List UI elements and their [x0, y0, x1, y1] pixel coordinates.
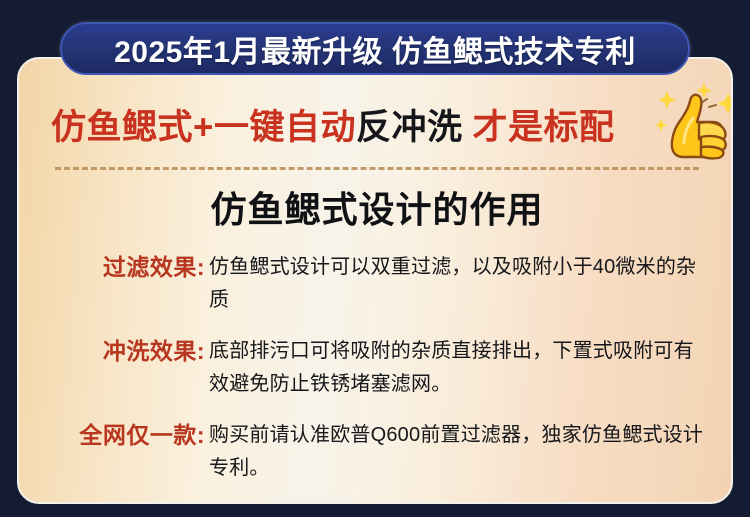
top-badge: 2025年1月最新升级 仿鱼鳃式技术专利 — [60, 22, 690, 75]
info-row-label: 冲洗效果: — [19, 335, 205, 368]
headline-part-3: 才是标配 — [462, 99, 614, 150]
info-row-body: 仿鱼鳃式设计可以双重过滤，以及吸附小于40微米的杂质 — [205, 251, 733, 317]
info-row-body: 购买前请认准欧普Q600前置过滤器，独家仿鱼鳃式设计专利。 — [205, 419, 733, 485]
info-row-list: 过滤效果: 仿鱼鳃式设计可以双重过滤，以及吸附小于40微米的杂质 冲洗效果: 底… — [19, 251, 733, 503]
info-row: 过滤效果: 仿鱼鳃式设计可以双重过滤，以及吸附小于40微米的杂质 — [19, 251, 733, 317]
dashed-divider — [55, 167, 699, 170]
info-row-label: 全网仅一款: — [19, 419, 205, 452]
headline-row: 仿鱼鳃式+一键自动 反冲洗 才是标配 — [19, 99, 733, 150]
info-row: 全网仅一款: 购买前请认准欧普Q600前置过滤器，独家仿鱼鳃式设计专利。 — [19, 419, 733, 485]
headline-part-1: 仿鱼鳃式+一键自动 — [51, 99, 356, 150]
info-row: 冲洗效果: 底部排污口可将吸附的杂质直接排出，下置式吸附可有效避免防止铁锈堵塞滤… — [19, 335, 733, 401]
top-badge-label: 2025年1月最新升级 仿鱼鳃式技术专利 — [114, 27, 636, 71]
info-row-body: 底部排污口可将吸附的杂质直接排出，下置式吸附可有效避免防止铁锈堵塞滤网。 — [205, 335, 733, 401]
section-title: 仿鱼鳃式设计的作用 — [19, 181, 733, 233]
promo-poster: 仿鱼鳃式+一键自动 反冲洗 才是标配 — [0, 0, 750, 517]
headline-part-2: 反冲洗 — [356, 99, 463, 150]
promo-card: 仿鱼鳃式+一键自动 反冲洗 才是标配 — [17, 57, 733, 504]
info-row-label: 过滤效果: — [19, 251, 205, 284]
